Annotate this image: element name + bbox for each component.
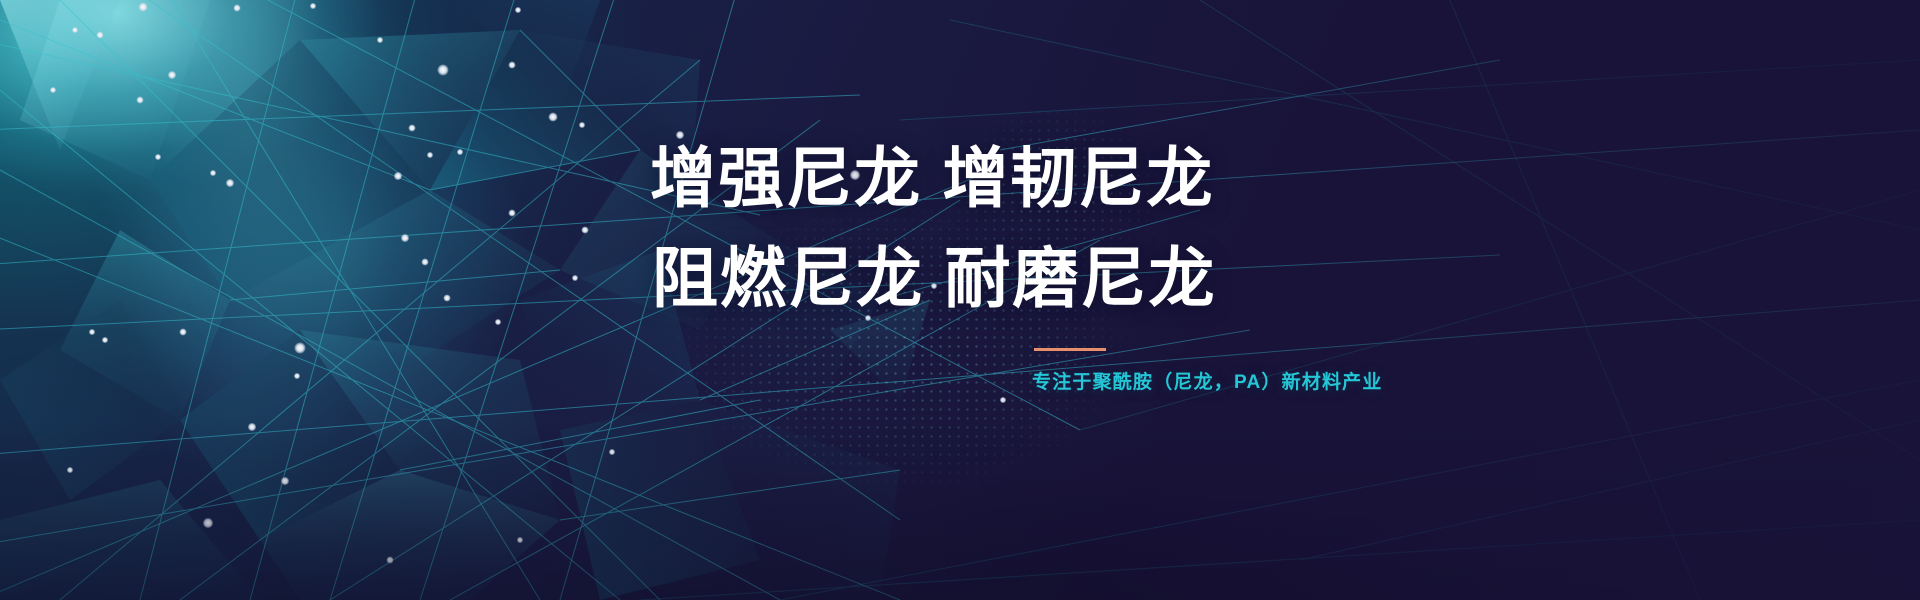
tagline-text: 专注于聚酰胺（尼龙，PA）新材料产业 [1032, 367, 1383, 394]
headline-line-2: 阻燃尼龙 耐磨尼龙 [650, 228, 1410, 328]
accent-divider [1034, 348, 1106, 351]
hero-banner: 增强尼龙 增韧尼龙 阻燃尼龙 耐磨尼龙 专注于聚酰胺（尼龙，PA）新材料产业 [0, 0, 1920, 600]
tagline-block: 专注于聚酰胺（尼龙，PA）新材料产业 [1032, 348, 1383, 394]
headline-line-1: 增强尼龙 增韧尼龙 [650, 128, 1410, 228]
headline-block: 增强尼龙 增韧尼龙 阻燃尼龙 耐磨尼龙 [650, 128, 1410, 328]
